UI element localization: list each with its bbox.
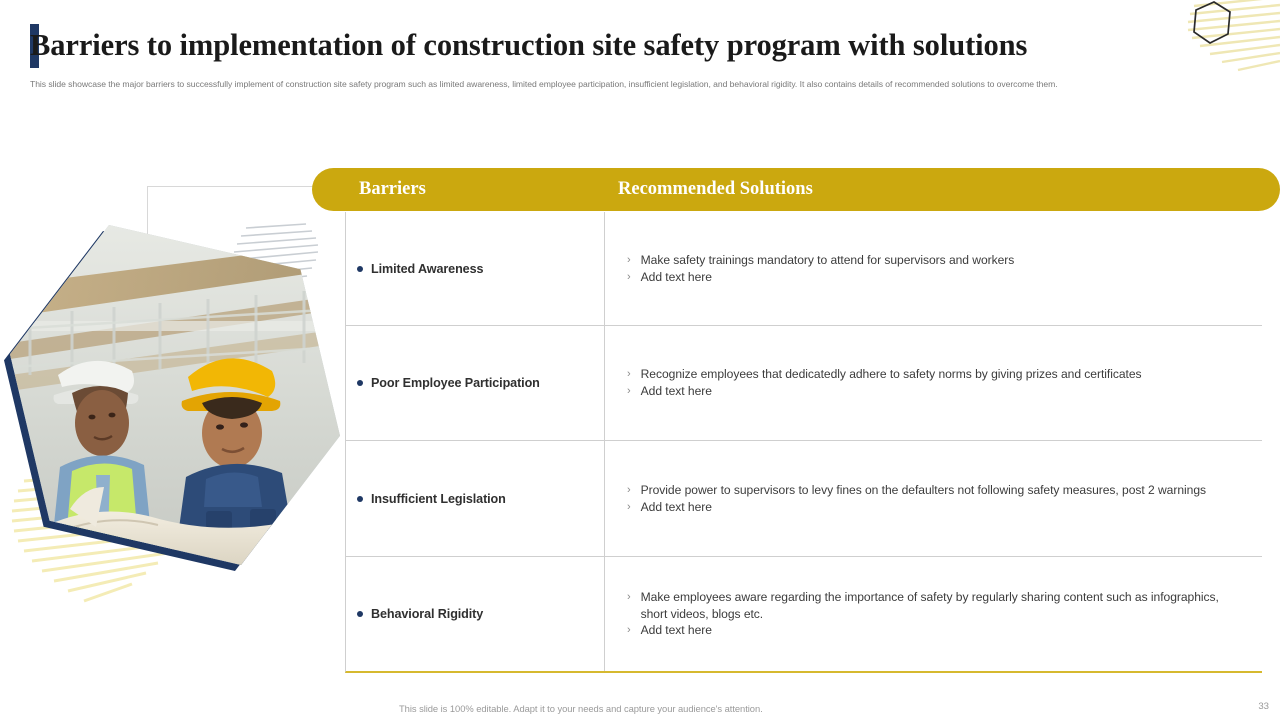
table-body: Limited Awareness › Make safety training… xyxy=(345,212,1262,673)
barrier-label: Limited Awareness xyxy=(371,262,483,276)
solution-item: › Recognize employees that dedicatedly a… xyxy=(627,366,1248,383)
table-row[interactable]: Insufficient Legislation › Provide power… xyxy=(346,441,1262,557)
bullet-dot-icon xyxy=(357,380,363,386)
bullet-dot-icon xyxy=(357,266,363,272)
cell-solutions: › Provide power to supervisors to levy f… xyxy=(605,441,1262,556)
footer-note: This slide is 100% editable. Adapt it to… xyxy=(399,703,763,714)
solution-item: › Make employees aware regarding the imp… xyxy=(627,589,1248,622)
table-row[interactable]: Behavioral Rigidity › Make employees awa… xyxy=(346,557,1262,671)
solution-item: › Make safety trainings mandatory to att… xyxy=(627,252,1248,269)
solution-text: Add text here xyxy=(641,383,712,400)
solution-text: Make employees aware regarding the impor… xyxy=(641,589,1248,622)
cell-solutions: › Recognize employees that dedicatedly a… xyxy=(605,326,1262,440)
solution-text: Add text here xyxy=(641,269,712,286)
solution-text: Recognize employees that dedicatedly adh… xyxy=(641,366,1142,383)
slide-subtitle: This slide showcase the major barriers t… xyxy=(30,78,1242,91)
barrier-label: Behavioral Rigidity xyxy=(371,607,483,621)
table-header-bar: Barriers Recommended Solutions xyxy=(312,168,1280,211)
cell-barrier: Limited Awareness xyxy=(346,212,605,325)
photo-image-construction-workers xyxy=(10,225,340,565)
chevron-right-icon: › xyxy=(627,366,631,383)
page-number: 33 xyxy=(1258,701,1269,712)
cell-barrier: Poor Employee Participation xyxy=(346,326,605,440)
bullet-dot-icon xyxy=(357,611,363,617)
page-title: Barriers to implementation of constructi… xyxy=(30,28,1170,63)
solution-text: Add text here xyxy=(641,622,712,639)
solution-item: › Add text here xyxy=(627,622,1248,639)
chevron-right-icon: › xyxy=(627,622,631,639)
cell-barrier: Insufficient Legislation xyxy=(346,441,605,556)
solution-text: Add text here xyxy=(641,499,712,516)
slide-root: Barriers to implementation of constructi… xyxy=(0,0,1280,720)
chevron-right-icon: › xyxy=(627,383,631,400)
header: Barriers to implementation of constructi… xyxy=(0,0,1280,70)
barrier-label: Poor Employee Participation xyxy=(371,376,540,390)
cell-barrier: Behavioral Rigidity xyxy=(346,557,605,671)
chevron-right-icon: › xyxy=(627,269,631,286)
chevron-right-icon: › xyxy=(627,589,631,606)
solution-item: › Provide power to supervisors to levy f… xyxy=(627,482,1248,499)
solution-text: Provide power to supervisors to levy fin… xyxy=(641,482,1206,499)
solution-text: Make safety trainings mandatory to atten… xyxy=(641,252,1015,269)
photo-hexagon xyxy=(10,225,340,565)
solution-item: › Add text here xyxy=(627,269,1248,286)
column-header-solutions: Recommended Solutions xyxy=(618,179,813,200)
solution-item: › Add text here xyxy=(627,383,1248,400)
chevron-right-icon: › xyxy=(627,499,631,516)
cell-solutions: › Make safety trainings mandatory to att… xyxy=(605,212,1262,325)
solution-item: › Add text here xyxy=(627,499,1248,516)
chevron-right-icon: › xyxy=(627,252,631,269)
chevron-right-icon: › xyxy=(627,482,631,499)
cell-solutions: › Make employees aware regarding the imp… xyxy=(605,557,1262,671)
column-header-barriers: Barriers xyxy=(359,179,426,200)
table-row[interactable]: Poor Employee Participation › Recognize … xyxy=(346,326,1262,441)
bullet-dot-icon xyxy=(357,496,363,502)
table-row[interactable]: Limited Awareness › Make safety training… xyxy=(346,212,1262,326)
barrier-label: Insufficient Legislation xyxy=(371,492,506,506)
